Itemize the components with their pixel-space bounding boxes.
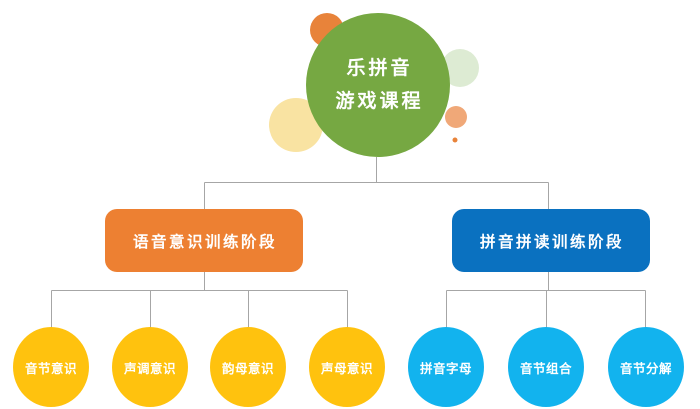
leaf-label: 音节组合 [520, 358, 572, 377]
leaf-label: 韵母意识 [222, 358, 274, 377]
leaf-label: 音节意识 [25, 358, 77, 377]
root-node[interactable]: 乐拼音 游戏课程 [306, 13, 450, 157]
leaf-label: 声母意识 [321, 358, 373, 377]
leaf-syllable-blending[interactable]: 音节组合 [508, 327, 584, 407]
leaf-final-awareness[interactable]: 韵母意识 [210, 327, 286, 407]
leaf-label: 拼音字母 [420, 358, 472, 377]
leaf-label: 声调意识 [124, 358, 176, 377]
branch-box-label: 拼音拼读训练阶段 [480, 230, 624, 252]
branch-box-pinyin-blending[interactable]: 拼音拼读训练阶段 [452, 209, 650, 272]
leaf-initial-awareness[interactable]: 声母意识 [309, 327, 385, 407]
leaf-pinyin-letters[interactable]: 拼音字母 [408, 327, 484, 407]
root-node-line1: 乐拼音 [346, 59, 412, 78]
root-node-line2: 游戏课程 [335, 92, 423, 111]
branch-box-phonological-awareness[interactable]: 语音意识训练阶段 [105, 209, 303, 272]
leaf-tone-awareness[interactable]: 声调意识 [112, 327, 188, 407]
diagram-canvas: 乐拼音 游戏课程 语音意识训练阶段 拼音拼读训练阶段 音节意识 声调意识 韵母意… [0, 0, 700, 409]
deco-peach-right-icon [445, 106, 467, 128]
leaf-label: 音节分解 [620, 358, 672, 377]
deco-dot-right-icon [453, 138, 458, 143]
branch-box-label: 语音意识训练阶段 [133, 230, 277, 252]
leaf-syllable-segmenting[interactable]: 音节分解 [608, 327, 684, 407]
leaf-syllable-awareness[interactable]: 音节意识 [13, 327, 89, 407]
